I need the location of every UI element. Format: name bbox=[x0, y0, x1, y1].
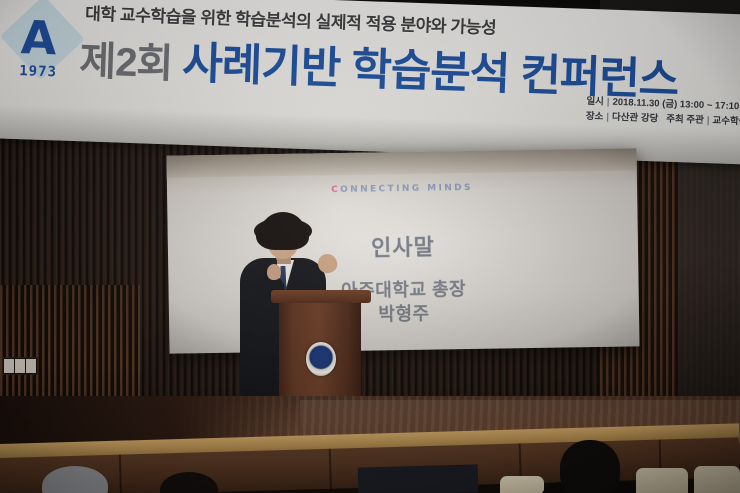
audience-head bbox=[560, 440, 620, 493]
wall-switch-panel[interactable] bbox=[2, 357, 38, 375]
banner-meta-date-label: 일시 bbox=[586, 96, 604, 108]
banner-meta-host-value: 교수학습 bbox=[712, 115, 740, 127]
speaker-left-hand bbox=[267, 264, 281, 280]
meta-separator-3: | bbox=[704, 115, 713, 126]
banner-meta-place-label: 장소 bbox=[586, 111, 604, 123]
event-banner: A 1973 대학 교수학습을 위한 학습분석의 실제적 적용 분야와 가능성 … bbox=[0, 0, 740, 165]
seal-inner-disc bbox=[313, 350, 329, 368]
banner-meta-place-value: 다산관 강당 bbox=[612, 112, 659, 125]
conference-photo: A 1973 대학 교수학습을 위한 학습분석의 실제적 적용 분야와 가능성 … bbox=[0, 0, 740, 493]
far-right-wall bbox=[678, 120, 740, 420]
ajou-university-logo: A 1973 bbox=[1, 4, 78, 91]
logo-year-text: 1973 bbox=[1, 62, 76, 81]
audience-chair bbox=[500, 476, 544, 493]
banner-edition-text: 제2회 bbox=[79, 39, 173, 86]
university-seal-emblem bbox=[306, 342, 336, 376]
audience-chair bbox=[636, 468, 688, 493]
lectern-top-surface bbox=[271, 290, 371, 303]
banner-meta-host-label: 주최 주관 bbox=[666, 113, 704, 125]
stage-panel-seam bbox=[119, 455, 122, 493]
stage-front-dark-panel bbox=[358, 464, 479, 493]
speaker-hair bbox=[260, 212, 306, 248]
banner-meta-date-value: 2018.11.30 (금) 13:00 ~ 17:10 bbox=[612, 97, 739, 112]
logo-mark-glyph: A bbox=[7, 9, 67, 67]
audience-chair bbox=[694, 466, 740, 493]
stage-panel-seam bbox=[329, 449, 332, 489]
